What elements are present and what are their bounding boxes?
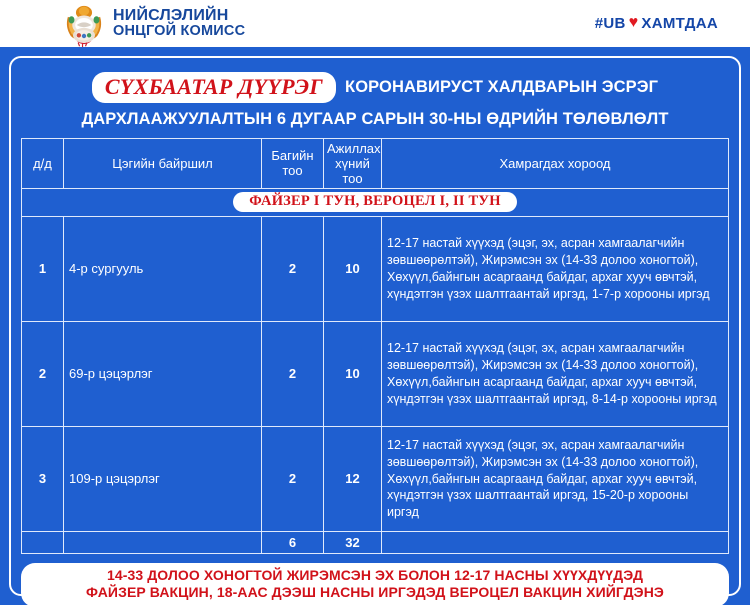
cell-khoroos: 12-17 настай хүүхэд (эцэг, эх, асран хам… xyxy=(382,216,729,321)
poster-panel: СҮХБААТАР ДҮҮРЭГ КОРОНАВИРУСТ ХАЛДВАРЫН … xyxy=(9,56,741,596)
total-staff: 32 xyxy=(324,531,382,553)
page-title: СҮХБААТАР ДҮҮРЭГ КОРОНАВИРУСТ ХАЛДВАРЫН … xyxy=(21,65,729,138)
title-line-1: СҮХБААТАР ДҮҮРЭГ КОРОНАВИРУСТ ХАЛДВАРЫН … xyxy=(21,72,729,103)
brand-line-2: ОНЦГОЙ КОМИСС xyxy=(113,24,245,39)
section-header-cell: ФАЙЗЕР I ТУН, ВЕРОЦЕЛ I, II ТУН xyxy=(22,188,729,216)
cell-location: 4-р сургууль xyxy=(64,216,262,321)
cell-staff: 12 xyxy=(324,426,382,531)
brand-block: НИЙСЛЭЛИЙН ОНЦГОЙ КОМИСС xyxy=(62,0,245,48)
table-head: д/д Цэгийн байршил Багийн тоо Ажиллах хү… xyxy=(22,138,729,188)
footer-note: 14-33 ДОЛОО ХОНОГТОЙ ЖИРЭМСЭН ЭХ БОЛОН 1… xyxy=(21,563,729,605)
title-line-2: ДАРХЛААЖУУЛАЛТЫН 6 ДУГААР САРЫН 30-НЫ ӨД… xyxy=(21,110,729,129)
ulaanbaatar-city-emblem-icon xyxy=(62,2,106,48)
vaccination-schedule-table: д/д Цэгийн байршил Багийн тоо Ажиллах хү… xyxy=(21,138,729,554)
table-row: 2 69-р цэцэрлэг 2 10 12-17 настай хүүхэд… xyxy=(22,321,729,426)
cell-khoroos: 12-17 настай хүүхэд (эцэг, эх, асран хам… xyxy=(382,321,729,426)
cell-location: 69-р цэцэрлэг xyxy=(64,321,262,426)
hashtag-suffix: ХАМТДАА xyxy=(641,15,718,32)
footer-note-wrap: 14-33 ДОЛОО ХОНОГТОЙ ЖИРЭМСЭН ЭХ БОЛОН 1… xyxy=(21,554,729,605)
table-totals-row: 6 32 xyxy=(22,531,729,553)
hashtag-badge: #UB ♥ ХАМТДАА xyxy=(585,12,728,36)
poster-stage: СҮХБААТАР ДҮҮРЭГ КОРОНАВИРУСТ ХАЛДВАРЫН … xyxy=(0,47,750,605)
cell-teams: 2 xyxy=(262,321,324,426)
vaccine-dose-label: ФАЙЗЕР I ТУН, ВЕРОЦЕЛ I, II ТУН xyxy=(233,192,516,212)
section-header-row: ФАЙЗЕР I ТУН, ВЕРОЦЕЛ I, II ТУН xyxy=(22,188,729,216)
cell-index: 2 xyxy=(22,321,64,426)
district-name-pill: СҮХБААТАР ДҮҮРЭГ xyxy=(92,72,336,103)
total-location xyxy=(64,531,262,553)
brand-line-1: НИЙСЛЭЛИЙН xyxy=(113,8,245,24)
column-header-index: д/д xyxy=(22,138,64,188)
cell-staff: 10 xyxy=(324,321,382,426)
heart-icon: ♥ xyxy=(629,15,639,31)
total-index xyxy=(22,531,64,553)
total-teams: 6 xyxy=(262,531,324,553)
total-khoroos xyxy=(382,531,729,553)
cell-teams: 2 xyxy=(262,426,324,531)
cell-teams: 2 xyxy=(262,216,324,321)
table-body: ФАЙЗЕР I ТУН, ВЕРОЦЕЛ I, II ТУН 1 4-р су… xyxy=(22,188,729,553)
cell-khoroos: 12-17 настай хүүхэд (эцэг, эх, асран хам… xyxy=(382,426,729,531)
table-header-row: д/д Цэгийн байршил Багийн тоо Ажиллах хү… xyxy=(22,138,729,188)
page-header: НИЙСЛЭЛИЙН ОНЦГОЙ КОМИСС #UB ♥ ХАМТДАА xyxy=(0,0,750,47)
cell-index: 1 xyxy=(22,216,64,321)
title-line-1-rest: КОРОНАВИРУСТ ХАЛДВАРЫН ЭСРЭГ xyxy=(345,78,658,97)
column-header-location: Цэгийн байршил xyxy=(64,138,262,188)
column-header-khoroos: Хамрагдах хороод xyxy=(382,138,729,188)
cell-location: 109-р цэцэрлэг xyxy=(64,426,262,531)
column-header-staff: Ажиллах хүний тоо xyxy=(324,138,382,188)
column-header-teams: Багийн тоо xyxy=(262,138,324,188)
cell-index: 3 xyxy=(22,426,64,531)
cell-staff: 10 xyxy=(324,216,382,321)
brand-text: НИЙСЛЭЛИЙН ОНЦГОЙ КОМИСС xyxy=(113,8,245,39)
hashtag-prefix: #UB xyxy=(595,15,626,32)
table-row: 1 4-р сургууль 2 10 12-17 настай хүүхэд … xyxy=(22,216,729,321)
table-row: 3 109-р цэцэрлэг 2 12 12-17 настай хүүхэ… xyxy=(22,426,729,531)
